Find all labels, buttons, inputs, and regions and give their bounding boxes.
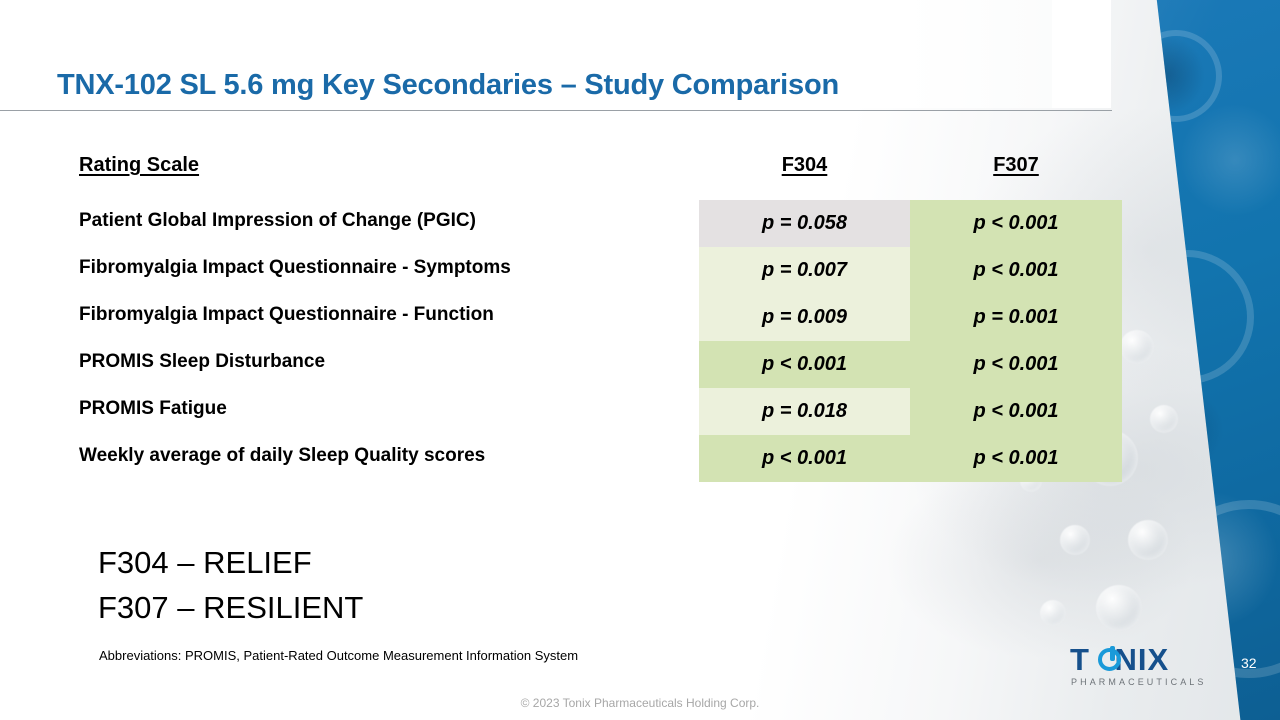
column-header-rating-scale: Rating Scale (79, 154, 199, 177)
header-white-panel (1052, 0, 1111, 108)
header-divider (0, 110, 1112, 111)
table-cell-f304: p = 0.018 (699, 388, 910, 435)
tonix-logo: TONIX PHARMACEUTICALS (1070, 644, 1222, 692)
table-cell-f307: p < 0.001 (910, 435, 1122, 482)
study-legend-f304: F304 – RELIEF (98, 545, 312, 581)
table-cell-f307: p < 0.001 (910, 200, 1122, 247)
table-cell-f307: p = 0.001 (910, 294, 1122, 341)
table-cell-f304: p = 0.007 (699, 247, 910, 294)
logo-letter-t: T (1070, 642, 1089, 677)
logo-subtitle: PHARMACEUTICALS (1071, 677, 1207, 687)
abbreviations-note: Abbreviations: PROMIS, Patient-Rated Out… (99, 648, 578, 663)
table-cell-f307: p < 0.001 (910, 388, 1122, 435)
study-legend-f307: F307 – RESILIENT (98, 590, 363, 626)
table-cell-f304: p < 0.001 (699, 435, 910, 482)
table-cell-f307: p < 0.001 (910, 247, 1122, 294)
slide-canvas: TNX-102 SL 5.6 mg Key Secondaries – Stud… (0, 0, 1280, 720)
table-cell-f307: p < 0.001 (910, 341, 1122, 388)
copyright-notice: © 2023 Tonix Pharmaceuticals Holding Cor… (0, 696, 1280, 710)
table-cell-f304: p = 0.058 (699, 200, 910, 247)
table-row-label: PROMIS Fatigue (79, 398, 227, 420)
table-row-label: Fibromyalgia Impact Questionnaire - Symp… (79, 257, 511, 279)
tonix-o-mark-icon (1098, 646, 1125, 673)
table-row-label: PROMIS Sleep Disturbance (79, 351, 325, 373)
column-header-f307: F307 (910, 154, 1122, 177)
table-cell-f304: p = 0.009 (699, 294, 910, 341)
page-number: 32 (1241, 655, 1257, 671)
column-header-f304: F304 (699, 154, 910, 177)
table-cell-f304: p < 0.001 (699, 341, 910, 388)
table-row-label: Patient Global Impression of Change (PGI… (79, 210, 476, 232)
table-row-label: Fibromyalgia Impact Questionnaire - Func… (79, 304, 494, 326)
table-row-label: Weekly average of daily Sleep Quality sc… (79, 445, 485, 467)
page-title: TNX-102 SL 5.6 mg Key Secondaries – Stud… (57, 69, 839, 102)
